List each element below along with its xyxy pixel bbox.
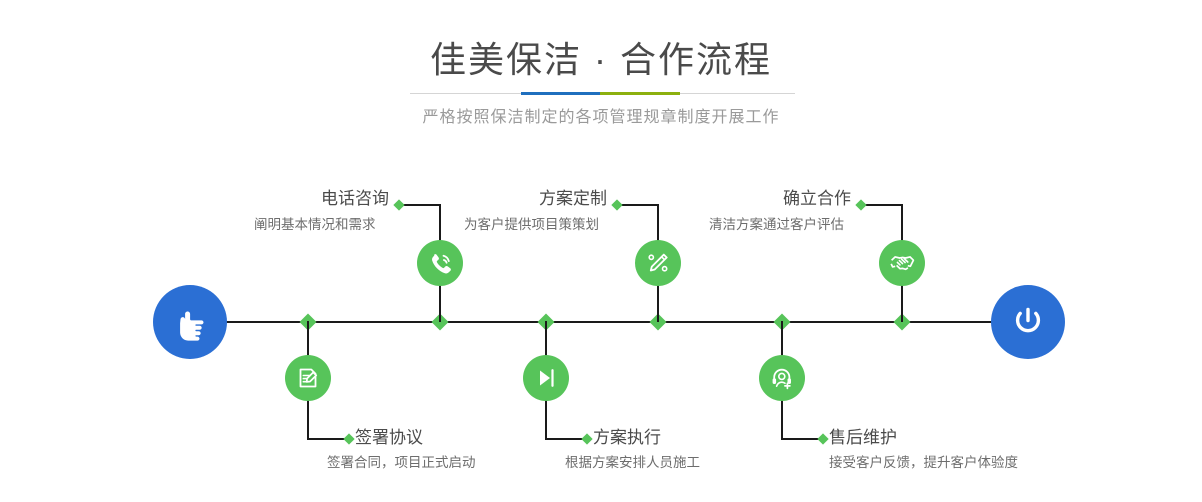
step-connector-horizontal-2 (307, 438, 348, 440)
page-subtitle: 严格按照保洁制定的各项管理规章制度开展工作 (0, 105, 1202, 131)
pencil-design-icon (644, 249, 672, 277)
play-execute-icon (533, 365, 559, 391)
step-icon-circle-6[interactable] (879, 240, 925, 286)
step-icon-circle-2[interactable] (285, 355, 331, 401)
step-desc-3: 为客户提供项目策策划 (464, 215, 599, 235)
step-title-5: 售后维护 (829, 427, 897, 449)
step-title-1: 电话咨询 (321, 188, 389, 210)
step-title-4: 方案执行 (593, 427, 661, 449)
document-sign-icon (294, 364, 322, 392)
step-desc-5: 接受客户反馈，提升客户体验度 (829, 453, 1018, 473)
step-desc-2: 签署合同，项目正式启动 (327, 453, 476, 473)
step-icon-circle-5[interactable] (759, 355, 805, 401)
step-connector-horizontal-3 (617, 204, 658, 206)
step-icon-circle-1[interactable] (417, 240, 463, 286)
timeline-start-node[interactable] (153, 285, 227, 359)
step-tip-marker-1 (393, 199, 404, 210)
step-tip-marker-5 (817, 433, 828, 444)
step-connector-horizontal-6 (861, 204, 902, 206)
handshake-icon (888, 249, 916, 277)
step-desc-4: 根据方案安排人员施工 (565, 453, 700, 473)
step-title-6: 确立合作 (783, 188, 851, 210)
step-title-3: 方案定制 (539, 188, 607, 210)
pointing-hand-icon (170, 302, 210, 342)
step-connector-horizontal-5 (781, 438, 822, 440)
title-divider-green-segment (600, 92, 680, 95)
step-title-2: 签署协议 (355, 427, 423, 449)
step-connector-horizontal-4 (545, 438, 586, 440)
step-tip-marker-6 (855, 199, 866, 210)
step-tip-marker-4 (581, 433, 592, 444)
power-button-icon (1007, 301, 1049, 343)
step-connector-horizontal-1 (399, 204, 440, 206)
step-desc-6: 清洁方案通过客户评估 (709, 215, 844, 235)
step-tip-marker-3 (611, 199, 622, 210)
page-title: 佳美保洁 · 合作流程 (0, 38, 1202, 82)
title-divider-blue-segment (521, 92, 600, 95)
phone-call-icon (426, 249, 454, 277)
flow-diagram: 佳美保洁 · 合作流程 严格按照保洁制定的各项管理规章制度开展工作 (0, 0, 1202, 502)
timeline-end-node[interactable] (991, 285, 1065, 359)
step-tip-marker-2 (343, 433, 354, 444)
step-icon-circle-3[interactable] (635, 240, 681, 286)
step-desc-1: 阐明基本情况和需求 (254, 215, 376, 235)
support-headset-icon (768, 364, 796, 392)
step-icon-circle-4[interactable] (523, 355, 569, 401)
